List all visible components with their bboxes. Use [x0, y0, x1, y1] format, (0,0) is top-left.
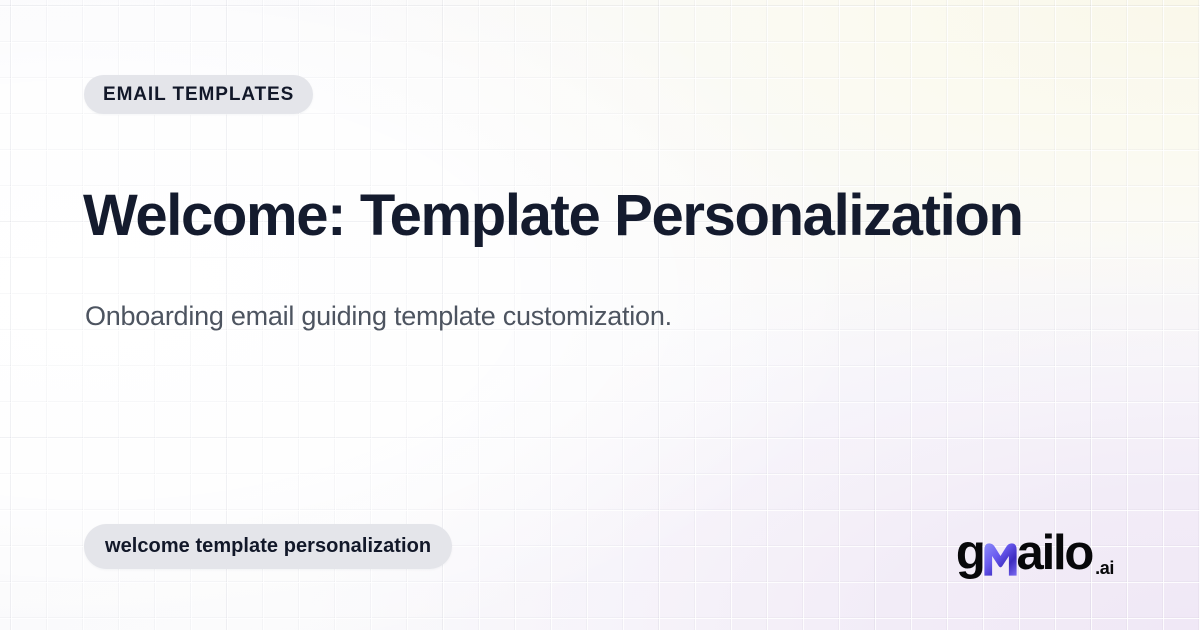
og-card: EMAIL TEMPLATES Welcome: Template Person…	[0, 0, 1200, 630]
keyword-tag-badge: welcome template personalization	[84, 524, 452, 569]
brand-logo-tld-text: .ai	[1095, 559, 1114, 577]
m-envelope-icon	[983, 542, 1018, 577]
page-subtitle: Onboarding email guiding template custom…	[85, 298, 985, 334]
page-title: Welcome: Template Personalization	[83, 183, 1123, 249]
brand-logo: g ailo	[956, 529, 1114, 578]
keyword-tag-label: welcome template personalization	[105, 535, 431, 558]
category-badge-label: EMAIL TEMPLATES	[103, 84, 294, 106]
category-badge: EMAIL TEMPLATES	[84, 75, 313, 114]
brand-logo-tail-text: ailo	[1017, 529, 1093, 578]
brand-logo-wordmark: g ailo	[956, 529, 1114, 578]
card-content: EMAIL TEMPLATES Welcome: Template Person…	[0, 0, 1200, 630]
brand-logo-lead-text: g	[956, 529, 984, 578]
